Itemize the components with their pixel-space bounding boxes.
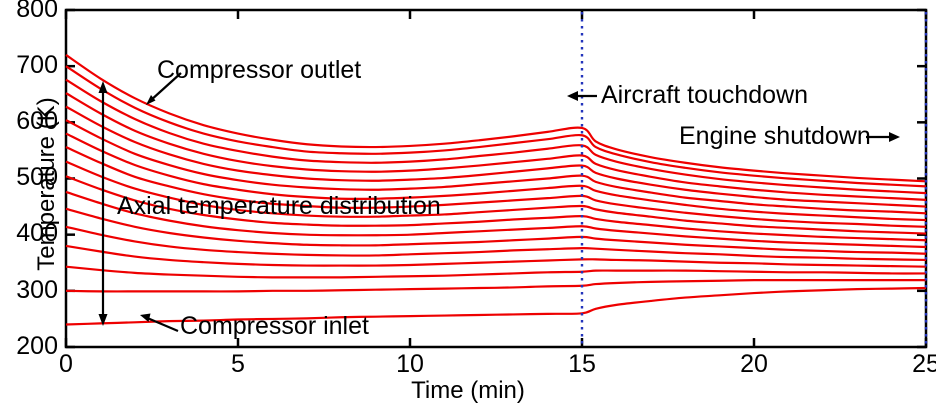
ytick-label: 800 [0,0,58,22]
xtick-label: 10 [380,352,440,377]
temperature-curve [66,267,926,278]
xtick-label: 25 [896,352,936,377]
x-axis-label: Time (min) [0,377,936,403]
annotation-compressor-outlet: Compressor outlet [157,58,361,83]
annotation-compressor-inlet: Compressor inlet [180,314,369,339]
annotation-aircraft-touchdown: Aircraft touchdown [601,83,808,108]
annotation-engine-shutdown: Engine shutdown [679,124,871,149]
y-axis-label: Temperature (K) [33,54,61,314]
xtick-label: 15 [552,352,612,377]
xtick-label: 20 [724,352,784,377]
xtick-label: 5 [208,352,268,377]
temperature-vs-time-chart: 800 700 600 500 400 300 200 0 5 10 15 20… [0,0,936,403]
engine-shutdown-arrow [866,132,900,142]
temperature-curve [66,280,926,291]
xtick-label: 0 [36,352,96,377]
annotation-axial-distribution: Axial temperature distribution [117,194,441,219]
aircraft-touchdown-arrow [567,91,597,101]
